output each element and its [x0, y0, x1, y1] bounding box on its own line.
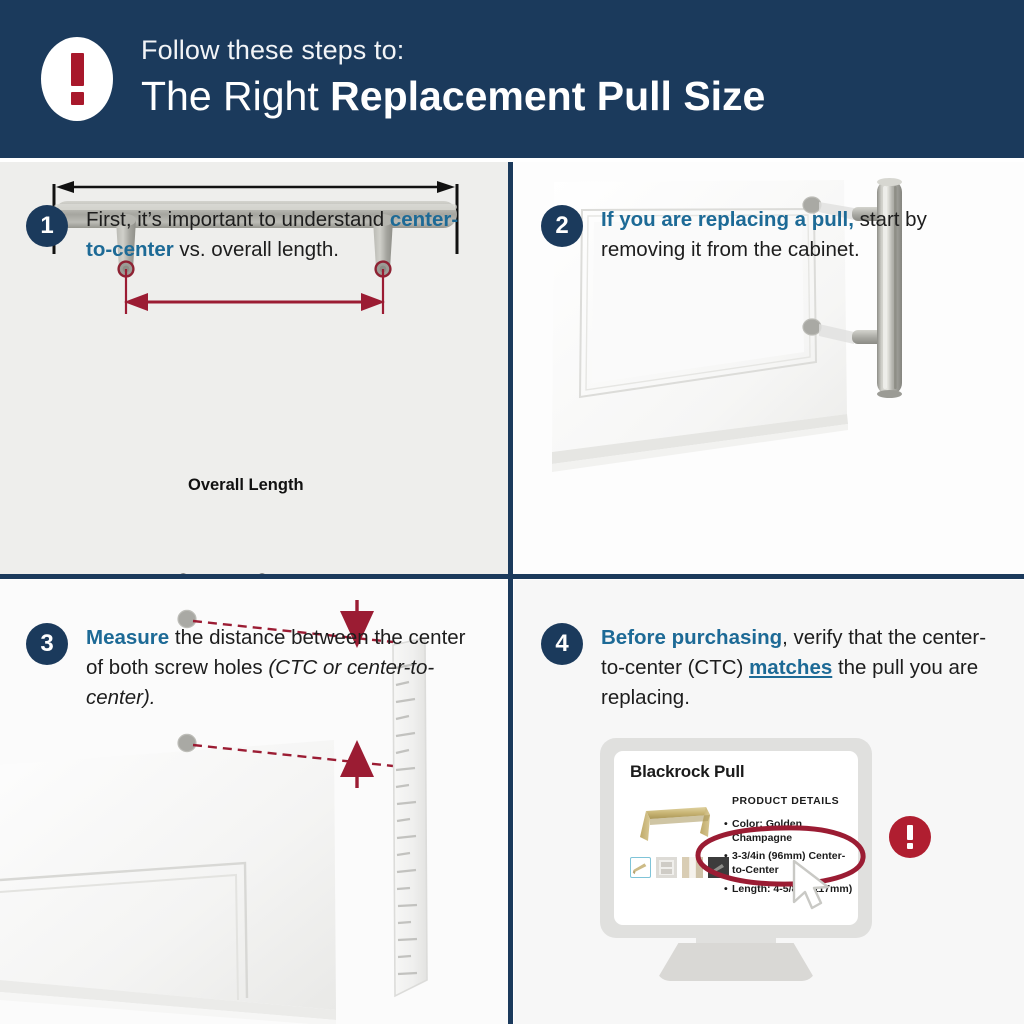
monitor-base — [656, 943, 816, 981]
header-text-block: Follow these steps to: The Right Replace… — [141, 36, 765, 122]
product-detail-item: • Color: Golden Champagne — [732, 817, 854, 845]
step-header-1: 1 First, it’s important to understand ce… — [26, 205, 476, 265]
step-text-2: If you are replacing a pull, start by re… — [601, 205, 941, 265]
step-text-1: First, it’s important to understand cent… — [86, 205, 476, 265]
bullet-icon: • — [724, 882, 728, 896]
step-number-badge-2: 2 — [541, 205, 583, 247]
horizontal-divider — [0, 574, 1024, 579]
infographic-page: Follow these steps to: The Right Replace… — [0, 0, 1024, 1024]
header-banner: Follow these steps to: The Right Replace… — [0, 0, 1024, 158]
bullet-icon: • — [724, 849, 728, 863]
step-text-3: Measure the distance between the center … — [86, 623, 476, 713]
step-3-part-bold: Measure — [86, 626, 169, 649]
drawer-thumbnail[interactable] — [682, 857, 703, 878]
bullet-icon: • — [724, 817, 728, 831]
step-text-4: Before purchasing, verify that the cente… — [601, 623, 1001, 713]
step-number-badge-3: 3 — [26, 623, 68, 665]
vertical-divider — [508, 162, 513, 1024]
step-2-part-bold: If you are replacing a pull, — [601, 208, 854, 231]
alert-exclamation-icon — [889, 816, 931, 858]
page-title: The Right Replacement Pull Size — [141, 71, 765, 122]
step-number-badge-1: 1 — [26, 205, 68, 247]
pull-thumbnail-selected[interactable] — [630, 857, 651, 878]
overall-length-label: Overall Length — [181, 476, 311, 495]
product-title: Blackrock Pull — [630, 762, 744, 782]
mouse-pointer-icon — [788, 858, 834, 914]
page-title-light: The Right — [141, 73, 330, 119]
product-details-heading: PRODUCT DETAILS — [732, 795, 839, 807]
exclamation-circle-icon — [41, 37, 113, 121]
step-1-part-plain-a: First, it’s important to understand — [86, 208, 390, 231]
matches-link[interactable]: matches — [749, 656, 832, 679]
page-title-bold: Replacement Pull Size — [330, 73, 765, 119]
step-header-2: 2 If you are replacing a pull, start by … — [541, 205, 941, 265]
step-header-4: 4 Before purchasing, verify that the cen… — [541, 623, 1001, 713]
product-thumbnail-row[interactable] — [630, 857, 729, 878]
step-1-part-plain-b: vs. overall length. — [174, 238, 339, 261]
up-arrow-icon — [340, 740, 374, 788]
step-header-3: 3 Measure the distance between the cente… — [26, 623, 476, 713]
step-number-badge-4: 4 — [541, 623, 583, 665]
step-4-part-bold: Before purchasing — [601, 626, 782, 649]
product-hero-image — [632, 799, 720, 845]
product-detail-text: Color: Golden Champagne — [732, 818, 802, 844]
product-page-monitor: Blackrock Pull — [600, 738, 880, 978]
header-kicker: Follow these steps to: — [141, 36, 765, 66]
cabinet-thumbnail[interactable] — [656, 857, 677, 878]
